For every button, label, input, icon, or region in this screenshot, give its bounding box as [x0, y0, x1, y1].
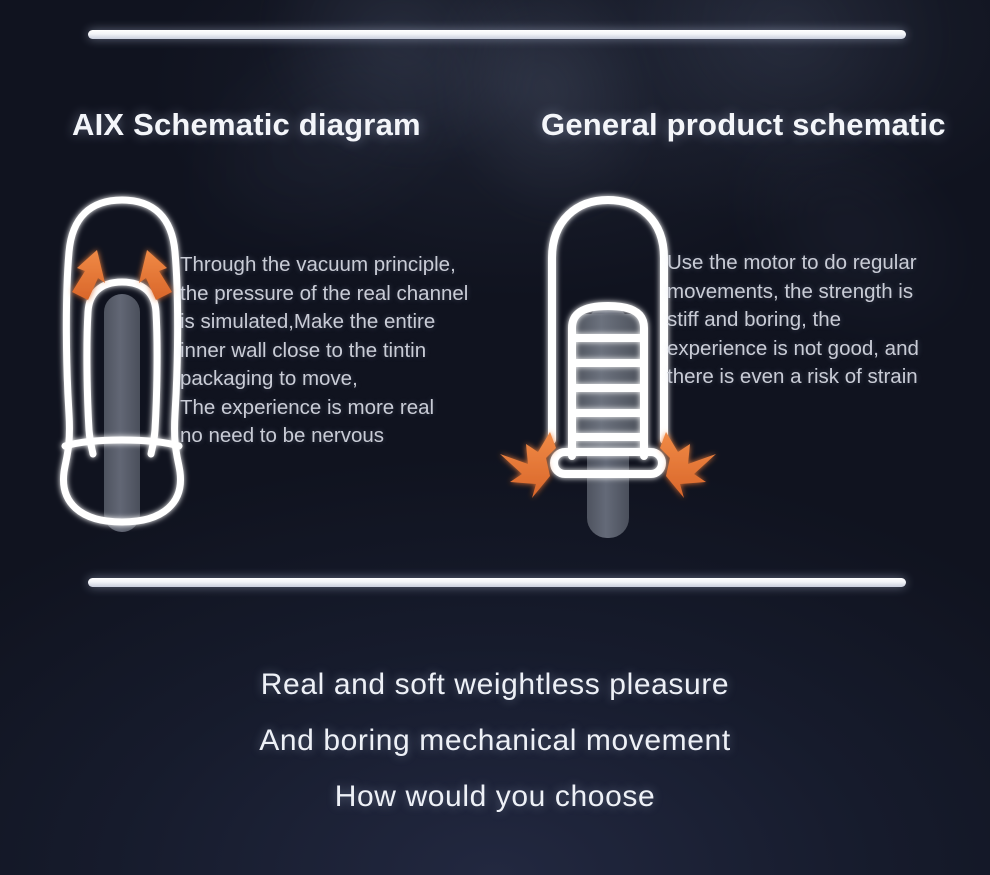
heading-left: AIX Schematic diagram	[72, 107, 421, 143]
figure-aix-schematic	[42, 186, 202, 551]
insert-rod-left	[104, 294, 140, 532]
divider-top	[88, 30, 906, 39]
body-copy-left: Through the vacuum principle, the pressu…	[180, 251, 530, 451]
vacuum-arrows-left	[72, 250, 172, 300]
tagline-3: How would you choose	[0, 769, 990, 825]
product-comparison-poster: AIX Schematic diagram General product sc…	[0, 0, 990, 875]
body-copy-right: Use the motor to do regular movements, t…	[667, 249, 979, 392]
heading-right: General product schematic	[541, 107, 946, 143]
divider-bottom	[88, 578, 906, 587]
tagline-2: And boring mechanical movement	[0, 713, 990, 769]
tagline-block: Real and soft weightless pleasure And bo…	[0, 657, 990, 825]
tagline-1: Real and soft weightless pleasure	[0, 657, 990, 713]
